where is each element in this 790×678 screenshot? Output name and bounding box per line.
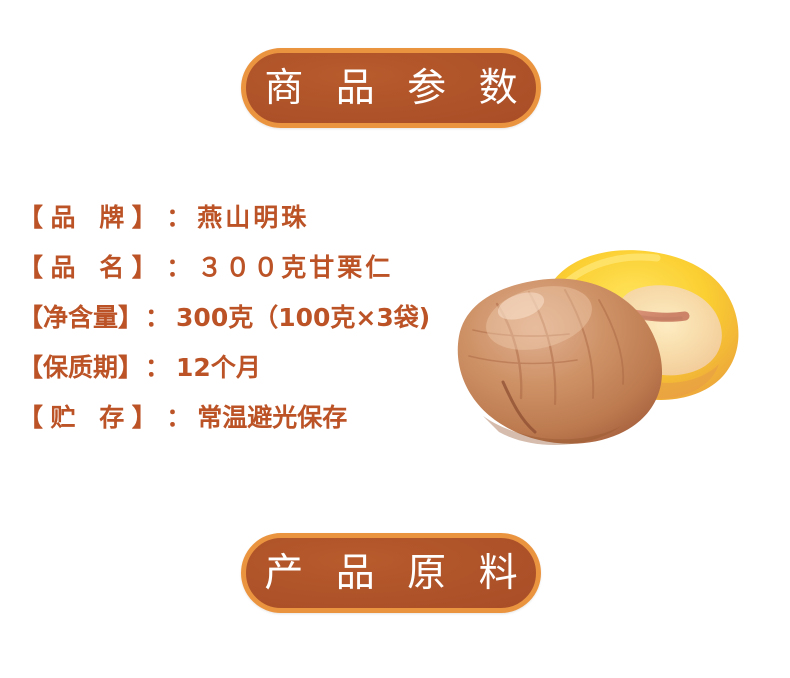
top-edge-strip [0,0,790,3]
spec-row-brand: 【品 牌】 ： 燕山明珠 [18,198,448,248]
section-banner-product-materials: 产 品 原 料 [241,533,541,613]
spec-row-storage: 【贮 存】 ： 常温避光保存 [18,398,448,448]
section-banner-product-materials-label: 产 品 原 料 [254,554,527,593]
section-banner-product-params: 商 品 参 数 [241,48,541,128]
spec-colon-storage: ： [164,398,197,434]
spec-value-storage: 常温避光保存 [197,405,347,430]
spec-label-brand: 【品 牌】 [18,205,164,230]
spec-colon-brand: ： [164,198,197,234]
section-banner-product-params-label: 商 品 参 数 [254,69,527,108]
spec-row-shelf-life: 【保质期】 ： 12个月 [18,348,448,398]
spec-label-product-name: 【品 名】 [18,255,164,280]
spec-value-shelf-life: 12个月 [176,355,261,380]
product-detail-page: 商 品 参 数 【品 牌】 ： 燕山明珠 【品 名】 ： ３００克甘栗仁 【净含… [0,0,790,678]
spec-row-product-name: 【品 名】 ： ３００克甘栗仁 [18,248,448,298]
product-spec-list: 【品 牌】 ： 燕山明珠 【品 名】 ： ３００克甘栗仁 【净含量】 ： 300… [18,198,448,448]
spec-value-product-name: ３００克甘栗仁 [197,255,393,280]
spec-value-net-weight: 300克（100克×3袋) [176,305,430,330]
chestnut-photo [443,232,763,460]
spec-value-brand: 燕山明珠 [197,205,309,230]
spec-row-net-weight: 【净含量】 ： 300克（100克×3袋) [18,298,448,348]
spec-label-storage: 【贮 存】 [18,405,164,430]
spec-colon-shelf-life: ： [143,348,176,384]
spec-label-net-weight: 【净含量】 [18,305,143,330]
spec-colon-net-weight: ： [143,298,176,334]
spec-label-shelf-life: 【保质期】 [18,355,143,380]
spec-colon-product-name: ： [164,248,197,284]
